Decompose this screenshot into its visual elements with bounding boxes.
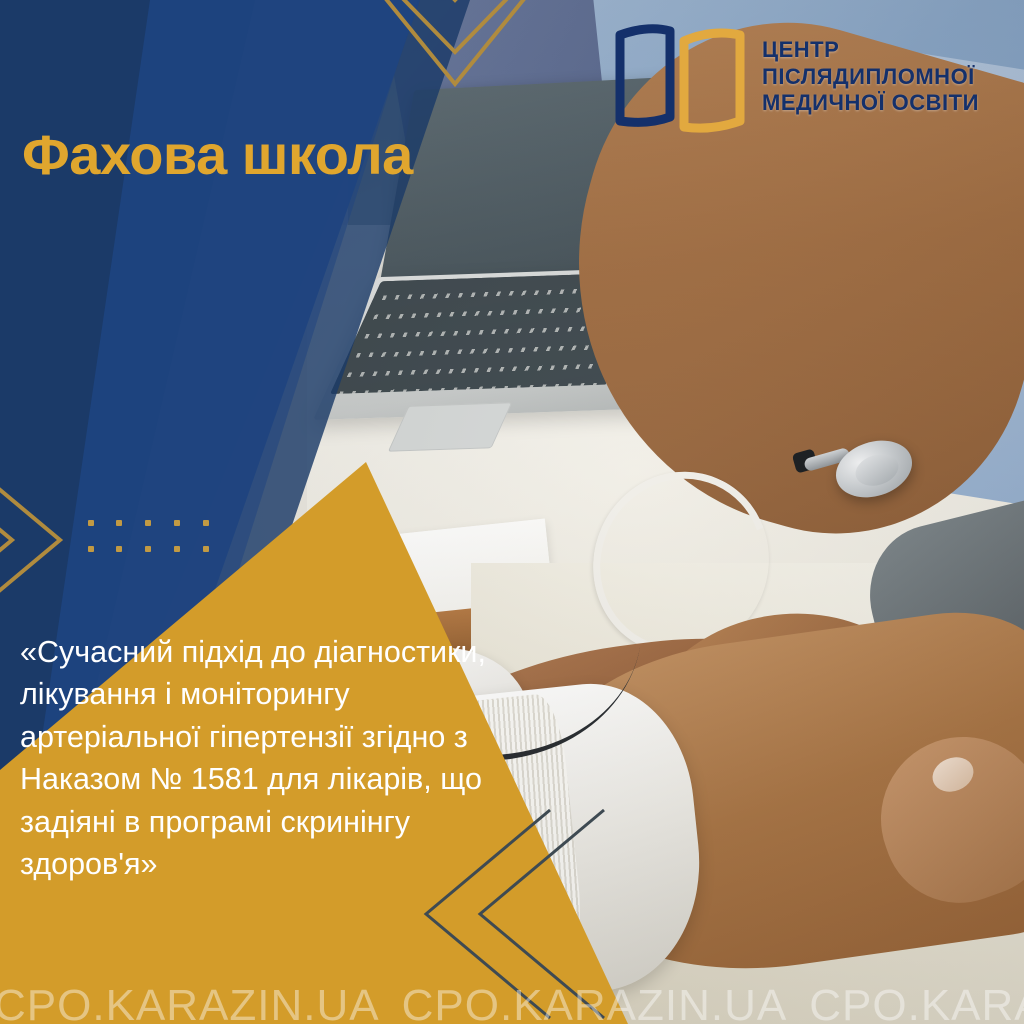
- watermark-item: CPO.KARAZIN.UA: [0, 981, 380, 1024]
- poster-canvas: ЦЕНТР ПІСЛЯДИПЛОМНОЇ МЕДИЧНОЇ ОСВІТИ Фах…: [0, 0, 1024, 1024]
- site-watermark: CPO.KARAZIN.UA CPO.KARAZIN.UA CPO.KARAZI…: [0, 981, 1024, 1024]
- logo-line-3: МЕДИЧНОЇ ОСВІТИ: [762, 92, 979, 114]
- course-description: «Сучасний підхід до діагностики, лікуван…: [20, 631, 492, 885]
- brand-logo[interactable]: ЦЕНТР ПІСЛЯДИПЛОМНОЇ МЕДИЧНОЇ ОСВІТИ: [612, 18, 1012, 136]
- watermark-item: CPO.KARAZIN.UA: [402, 981, 788, 1024]
- page-title: Фахова школа: [22, 126, 452, 185]
- brand-logo-text: ЦЕНТР ПІСЛЯДИПЛОМНОЇ МЕДИЧНОЇ ОСВІТИ: [762, 39, 979, 114]
- watermark-item: CPO.KARAZIN.UA: [809, 981, 1024, 1024]
- logo-line-1: ЦЕНТР: [762, 39, 979, 61]
- open-book-icon: [612, 21, 748, 133]
- logo-line-2: ПІСЛЯДИПЛОМНОЇ: [762, 66, 979, 88]
- dot-grid-icon: [88, 520, 218, 560]
